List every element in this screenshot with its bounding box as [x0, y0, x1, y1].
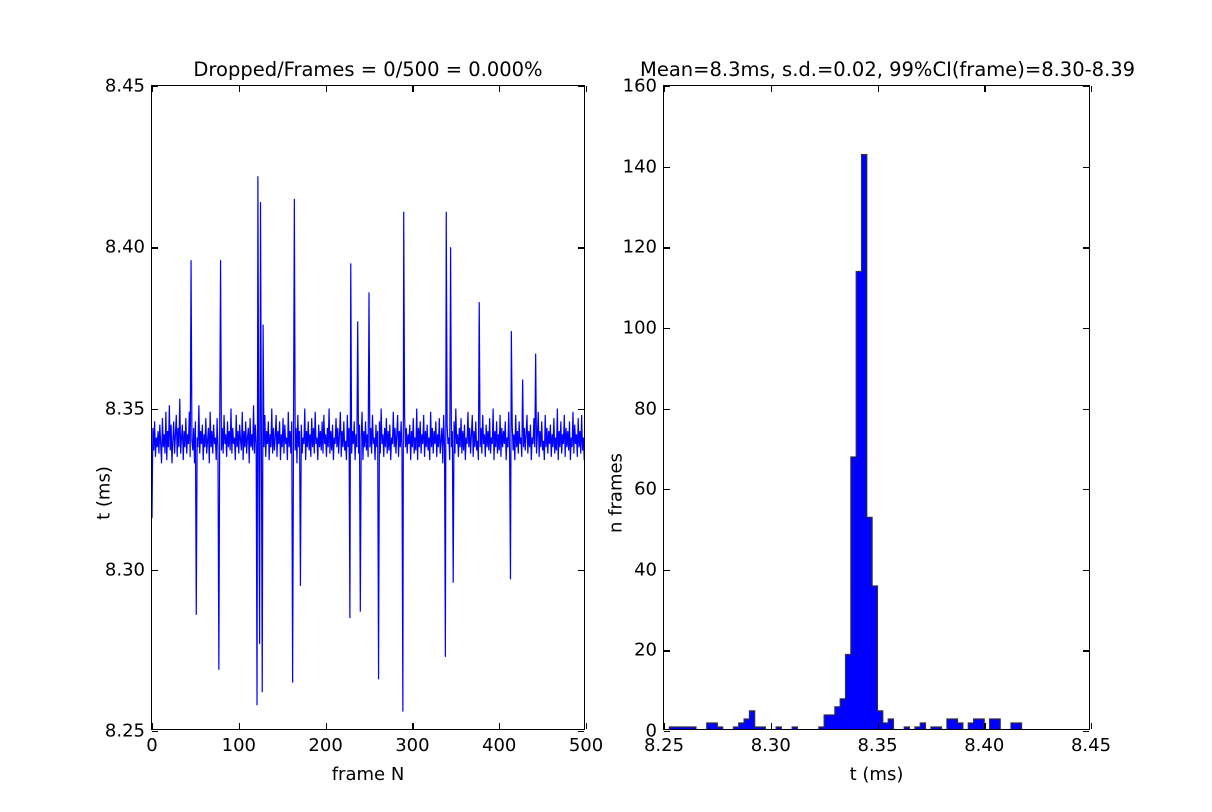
right-x-tickmark-top — [878, 86, 879, 92]
left-x-tickmark-top — [239, 86, 240, 92]
figure-canvas: Dropped/Frames = 0/500 = 0.000% t (ms) 0… — [0, 0, 1212, 812]
left-y-tick-label: 8.45 — [105, 76, 145, 97]
left-y-tick-label: 8.40 — [105, 237, 145, 258]
left-y-tickmark-right — [578, 409, 584, 410]
right-x-tickmark — [664, 723, 665, 729]
right-y-tickmark-right — [1083, 650, 1089, 651]
histogram-bars — [664, 155, 1089, 729]
timeseries-axes: t (ms) 01002003004005008.258.308.358.408… — [151, 85, 585, 730]
right-y-tickmark-right — [1083, 247, 1089, 248]
left-y-tickmark — [152, 409, 158, 410]
right-y-tickmark-right — [1083, 167, 1089, 168]
left-x-tick-label: 200 — [308, 735, 342, 756]
left-x-tickmark — [152, 723, 153, 729]
right-x-tick-label: 8.45 — [1071, 735, 1111, 756]
right-y-tick-label: 40 — [634, 559, 657, 580]
histogram-plot-area — [664, 86, 1089, 729]
left-y-tickmark — [152, 731, 158, 732]
left-x-tick-label: 400 — [482, 735, 516, 756]
right-y-tick-label: 160 — [623, 76, 657, 97]
timeseries-line — [152, 176, 584, 711]
right-plot-title: Mean=8.3ms, s.d.=0.02, 99%CI(frame)=8.30… — [640, 60, 1113, 80]
histogram-axes: n frames 8.258.308.358.408.4502040608010… — [663, 85, 1090, 730]
right-y-tickmark-right — [1083, 489, 1089, 490]
right-ylabel-wrapper: n frames — [618, 86, 619, 731]
left-x-tickmark — [586, 723, 587, 729]
left-y-axis-label: t (ms) — [94, 466, 115, 520]
histogram-bars-svg — [664, 86, 1089, 729]
right-y-tick-label: 100 — [623, 317, 657, 338]
left-x-tickmark-top — [412, 86, 413, 92]
right-y-axis-label: n frames — [606, 453, 627, 533]
left-y-tick-label: 8.25 — [105, 721, 145, 742]
left-y-tickmark-right — [578, 731, 584, 732]
right-y-tickmark — [664, 570, 670, 571]
left-y-tick-label: 8.30 — [105, 559, 145, 580]
left-y-tickmark — [152, 247, 158, 248]
right-y-tick-label: 140 — [623, 156, 657, 177]
left-x-tickmark-top — [326, 86, 327, 92]
right-y-tick-label: 60 — [634, 479, 657, 500]
right-y-tickmark — [664, 409, 670, 410]
right-x-tickmark — [878, 723, 879, 729]
right-y-tickmark-right — [1083, 409, 1089, 410]
right-x-tick-label: 8.30 — [751, 735, 791, 756]
left-x-tickmark-top — [499, 86, 500, 92]
right-y-tickmark — [664, 328, 670, 329]
right-y-tickmark-right — [1083, 731, 1089, 732]
right-y-tickmark — [664, 731, 670, 732]
right-x-axis-label: t (ms) — [663, 764, 1090, 785]
left-x-tick-label: 0 — [146, 735, 157, 756]
left-y-tickmark-right — [578, 86, 584, 87]
right-x-tick-label: 8.35 — [857, 735, 897, 756]
right-y-tickmark-right — [1083, 328, 1089, 329]
right-y-tickmark-right — [1083, 86, 1089, 87]
left-x-tick-label: 100 — [222, 735, 256, 756]
left-y-tickmark — [152, 570, 158, 571]
right-y-tickmark — [664, 650, 670, 651]
left-x-tickmark — [239, 723, 240, 729]
right-x-tickmark — [1091, 723, 1092, 729]
left-x-tick-label: 300 — [395, 735, 429, 756]
right-y-tick-label: 20 — [634, 640, 657, 661]
right-x-tickmark-top — [984, 86, 985, 92]
right-x-tickmark — [771, 723, 772, 729]
histogram-bar-group — [664, 155, 1089, 729]
right-y-tickmark — [664, 167, 670, 168]
right-x-tickmark — [984, 723, 985, 729]
right-y-tick-label: 0 — [646, 721, 657, 742]
left-y-tick-label: 8.35 — [105, 398, 145, 419]
left-x-tickmark — [412, 723, 413, 729]
right-y-tick-label: 120 — [623, 237, 657, 258]
right-y-tickmark — [664, 489, 670, 490]
left-y-tickmark-right — [578, 570, 584, 571]
left-plot-title: Dropped/Frames = 0/500 = 0.000% — [151, 60, 585, 80]
left-y-tickmark — [152, 86, 158, 87]
left-x-tickmark — [499, 723, 500, 729]
right-x-tickmark-top — [771, 86, 772, 92]
timeseries-plot-area — [152, 86, 584, 729]
left-x-tick-label: 500 — [569, 735, 603, 756]
left-x-tickmark-top — [586, 86, 587, 92]
left-y-tickmark-right — [578, 247, 584, 248]
right-y-tickmark — [664, 247, 670, 248]
right-y-tick-label: 80 — [634, 398, 657, 419]
right-y-tickmark — [664, 86, 670, 87]
right-x-tickmark-top — [1091, 86, 1092, 92]
left-x-axis-label: frame N — [151, 764, 585, 785]
right-y-tickmark-right — [1083, 570, 1089, 571]
timeseries-line-svg — [152, 86, 584, 729]
left-x-tickmark — [326, 723, 327, 729]
right-x-tick-label: 8.40 — [964, 735, 1004, 756]
